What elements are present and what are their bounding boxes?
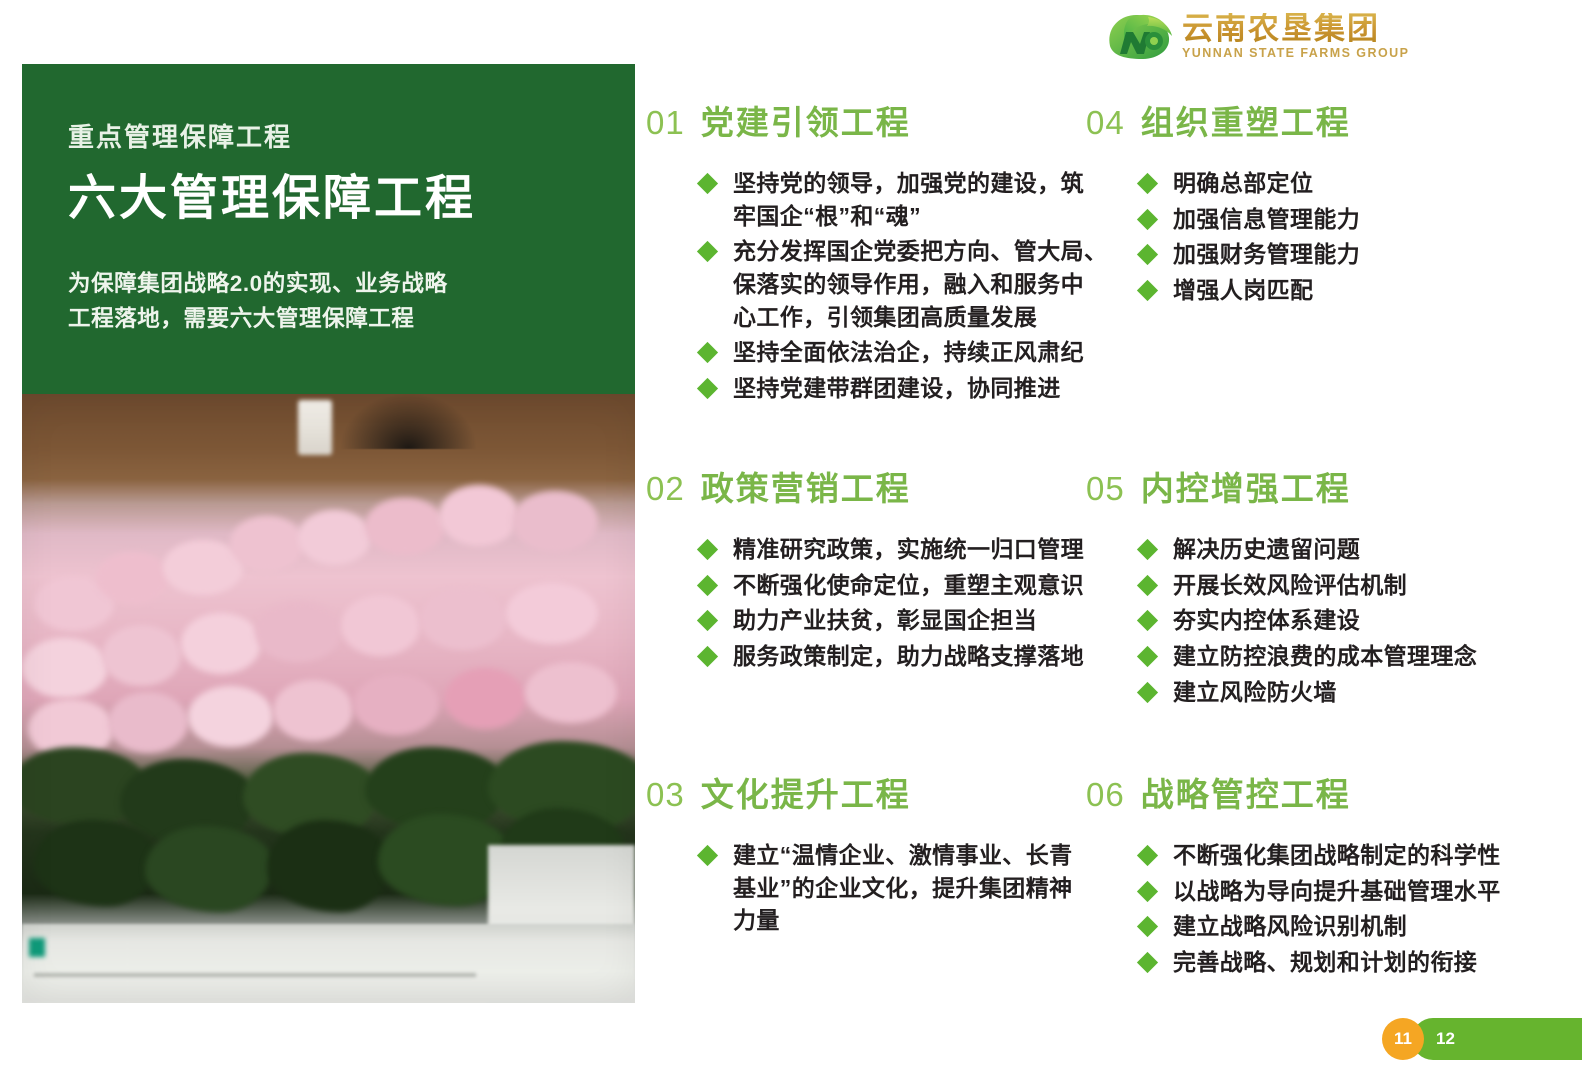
section-title: 组织重塑工程 <box>1141 96 1351 144</box>
section-bullets: 建立“温情企业、激情事业、长青 基业”的企业文化，提升集团精神 力量 <box>646 839 1098 937</box>
bullet-item: 建立防控浪费的成本管理理念 <box>1140 640 1546 673</box>
section-05: 05 内控增强工程 解决历史遗留问题 开展长效风险评估机制 夯实内控体系建设 <box>1086 462 1546 711</box>
bullet-item: 坚持党的领导，加强党的建设，筑 牢国企“根”和“魂” <box>700 167 1098 232</box>
section-01: 01 党建引领工程 坚持党的领导，加强党的建设，筑 牢国企“根”和“魂” 充分发… <box>646 96 1098 408</box>
bullet-line: 坚持党建带群团建设，协同推进 <box>733 372 1098 405</box>
slide-root: 云南农垦集团 YUNNAN STATE FARMS GROUP 重点管理保障工程… <box>0 0 1582 1079</box>
section-header: 03 文化提升工程 <box>646 768 1098 816</box>
bullet-item: 助力产业扶贫，彰显国企担当 <box>700 604 1098 637</box>
bullet-line: 保落实的领导作用，融入和服务中 <box>733 268 1098 301</box>
brand-logo: 云南农垦集团 YUNNAN STATE FARMS GROUP <box>1100 6 1362 68</box>
pagination: 11 12 <box>1382 1018 1582 1060</box>
bullet-line: 解决历史遗留问题 <box>1173 533 1546 566</box>
bullet-line: 加强信息管理能力 <box>1173 203 1546 236</box>
bullet-item: 坚持党建带群团建设，协同推进 <box>700 372 1098 405</box>
section-number: 04 <box>1086 104 1125 142</box>
section-bullets: 明确总部定位 加强信息管理能力 加强财务管理能力 增强人岗匹配 <box>1086 167 1546 307</box>
bullet-item: 解决历史遗留问题 <box>1140 533 1546 566</box>
section-02: 02 政策营销工程 精准研究政策，实施统一归口管理 不断强化使命定位，重塑主观意… <box>646 462 1098 676</box>
page-current-badge[interactable]: 12 <box>1412 1018 1582 1060</box>
diamond-bullet-icon <box>1137 682 1158 703</box>
diamond-bullet-icon <box>1137 881 1158 902</box>
section-03: 03 文化提升工程 建立“温情企业、激情事业、长青 基业”的企业文化，提升集团精… <box>646 768 1098 940</box>
diamond-bullet-icon <box>697 342 718 363</box>
section-bullets: 坚持党的领导，加强党的建设，筑 牢国企“根”和“魂” 充分发挥国企党委把方向、管… <box>646 167 1098 405</box>
panel-description-line-1: 为保障集团战略2.0的实现、业务战略 <box>68 267 589 302</box>
bullet-line: 服务政策制定，助力战略支撑落地 <box>733 640 1098 673</box>
bullet-item: 服务政策制定，助力战略支撑落地 <box>700 640 1098 673</box>
bullet-item: 加强信息管理能力 <box>1140 203 1546 236</box>
bullet-item: 建立战略风险识别机制 <box>1140 910 1546 943</box>
diamond-bullet-icon <box>1137 575 1158 596</box>
diamond-bullet-icon <box>1137 280 1158 301</box>
diamond-bullet-icon <box>697 575 718 596</box>
section-title: 战略管控工程 <box>1141 768 1351 816</box>
diamond-bullet-icon <box>1137 244 1158 265</box>
panel-title: 六大管理保障工程 <box>68 169 589 229</box>
bullet-line: 不断强化使命定位，重塑主观意识 <box>733 569 1098 602</box>
panel-description: 为保障集团战略2.0的实现、业务战略 工程落地，需要六大管理保障工程 <box>68 267 589 337</box>
bullet-item: 明确总部定位 <box>1140 167 1546 200</box>
brand-name-en: YUNNAN STATE FARMS GROUP <box>1182 46 1409 61</box>
bullet-line: 不断强化集团战略制定的科学性 <box>1173 839 1546 872</box>
diamond-bullet-icon <box>1137 539 1158 560</box>
leaf-logo-icon <box>1100 8 1176 66</box>
photo-overlay <box>22 394 635 1003</box>
page-prev-badge[interactable]: 11 <box>1382 1018 1424 1060</box>
section-bullets: 不断强化集团战略制定的科学性 以战略为导向提升基础管理水平 建立战略风险识别机制… <box>1086 839 1546 979</box>
bullet-line: 完善战略、规划和计划的衔接 <box>1173 946 1546 979</box>
diamond-bullet-icon <box>697 539 718 560</box>
panel-kicker: 重点管理保障工程 <box>68 122 589 153</box>
section-04: 04 组织重塑工程 明确总部定位 加强信息管理能力 加强财务管理能力 <box>1086 96 1546 310</box>
section-number: 05 <box>1086 470 1125 508</box>
diamond-bullet-icon <box>697 173 718 194</box>
diamond-bullet-icon <box>1137 646 1158 667</box>
diamond-bullet-icon <box>1137 209 1158 230</box>
section-header: 05 内控增强工程 <box>1086 462 1546 510</box>
bullet-line: 明确总部定位 <box>1173 167 1546 200</box>
diamond-bullet-icon <box>1137 952 1158 973</box>
bullet-line: 心工作，引领集团高质量发展 <box>733 301 1098 334</box>
bullet-line: 加强财务管理能力 <box>1173 238 1546 271</box>
bullet-item: 完善战略、规划和计划的衔接 <box>1140 946 1546 979</box>
section-title: 党建引领工程 <box>701 96 911 144</box>
brand-name-cn: 云南农垦集团 <box>1182 13 1409 46</box>
bullet-line: 助力产业扶贫，彰显国企担当 <box>733 604 1098 637</box>
section-bullets: 解决历史遗留问题 开展长效风险评估机制 夯实内控体系建设 建立防控浪费的成本管理… <box>1086 533 1546 708</box>
section-number: 06 <box>1086 776 1125 814</box>
bullet-item: 坚持全面依法治企，持续正风肃纪 <box>700 336 1098 369</box>
diamond-bullet-icon <box>697 845 718 866</box>
diamond-bullet-icon <box>1137 173 1158 194</box>
bullet-item: 开展长效风险评估机制 <box>1140 569 1546 602</box>
bullet-line: 坚持全面依法治企，持续正风肃纪 <box>733 336 1098 369</box>
diamond-bullet-icon <box>1137 845 1158 866</box>
bullet-line: 增强人岗匹配 <box>1173 274 1546 307</box>
bullet-item: 精准研究政策，实施统一归口管理 <box>700 533 1098 566</box>
bullet-item: 建立风险防火墙 <box>1140 676 1546 709</box>
section-header: 02 政策营销工程 <box>646 462 1098 510</box>
bullet-line: 力量 <box>733 904 1098 937</box>
diamond-bullet-icon <box>697 378 718 399</box>
bullet-line: 坚持党的领导，加强党的建设，筑 <box>733 167 1098 200</box>
bullet-line: 充分发挥国企党委把方向、管大局、 <box>733 235 1098 268</box>
bullet-line: 基业”的企业文化，提升集团精神 <box>733 872 1098 905</box>
bullet-item: 以战略为导向提升基础管理水平 <box>1140 875 1546 908</box>
roses-photo <box>22 394 635 1003</box>
section-header: 06 战略管控工程 <box>1086 768 1546 816</box>
diamond-bullet-icon <box>697 241 718 262</box>
section-title: 文化提升工程 <box>701 768 911 816</box>
bullet-line: 夯实内控体系建设 <box>1173 604 1546 637</box>
bullet-item: 加强财务管理能力 <box>1140 238 1546 271</box>
bullet-item: 不断强化集团战略制定的科学性 <box>1140 839 1546 872</box>
section-06: 06 战略管控工程 不断强化集团战略制定的科学性 以战略为导向提升基础管理水平 … <box>1086 768 1546 982</box>
bullet-line: 精准研究政策，实施统一归口管理 <box>733 533 1098 566</box>
diamond-bullet-icon <box>697 610 718 631</box>
bullet-line: 开展长效风险评估机制 <box>1173 569 1546 602</box>
green-title-panel: 重点管理保障工程 六大管理保障工程 为保障集团战略2.0的实现、业务战略 工程落… <box>22 64 635 394</box>
bullet-item: 充分发挥国企党委把方向、管大局、 保落实的领导作用，融入和服务中 心工作，引领集… <box>700 235 1098 333</box>
bullet-line: 建立“温情企业、激情事业、长青 <box>733 839 1098 872</box>
panel-description-line-2: 工程落地，需要六大管理保障工程 <box>68 302 589 337</box>
bullet-item: 建立“温情企业、激情事业、长青 基业”的企业文化，提升集团精神 力量 <box>700 839 1098 937</box>
diamond-bullet-icon <box>1137 610 1158 631</box>
diamond-bullet-icon <box>697 646 718 667</box>
bullet-line: 建立战略风险识别机制 <box>1173 910 1546 943</box>
bullet-item: 夯实内控体系建设 <box>1140 604 1546 637</box>
section-title: 政策营销工程 <box>701 462 911 510</box>
bullet-item: 增强人岗匹配 <box>1140 274 1546 307</box>
bullet-line: 以战略为导向提升基础管理水平 <box>1173 875 1546 908</box>
section-number: 03 <box>646 776 685 814</box>
section-header: 01 党建引领工程 <box>646 96 1098 144</box>
section-title: 内控增强工程 <box>1141 462 1351 510</box>
section-bullets: 精准研究政策，实施统一归口管理 不断强化使命定位，重塑主观意识 助力产业扶贫，彰… <box>646 533 1098 673</box>
left-column: 重点管理保障工程 六大管理保障工程 为保障集团战略2.0的实现、业务战略 工程落… <box>22 64 635 1003</box>
diamond-bullet-icon <box>1137 916 1158 937</box>
section-header: 04 组织重塑工程 <box>1086 96 1546 144</box>
bullet-line: 建立防控浪费的成本管理理念 <box>1173 640 1546 673</box>
section-number: 01 <box>646 104 685 142</box>
section-number: 02 <box>646 470 685 508</box>
bullet-item: 不断强化使命定位，重塑主观意识 <box>700 569 1098 602</box>
sections-grid: 01 党建引领工程 坚持党的领导，加强党的建设，筑 牢国企“根”和“魂” 充分发… <box>646 96 1556 996</box>
bullet-line: 牢国企“根”和“魂” <box>733 200 1098 233</box>
bullet-line: 建立风险防火墙 <box>1173 676 1546 709</box>
brand-text: 云南农垦集团 YUNNAN STATE FARMS GROUP <box>1182 13 1409 62</box>
